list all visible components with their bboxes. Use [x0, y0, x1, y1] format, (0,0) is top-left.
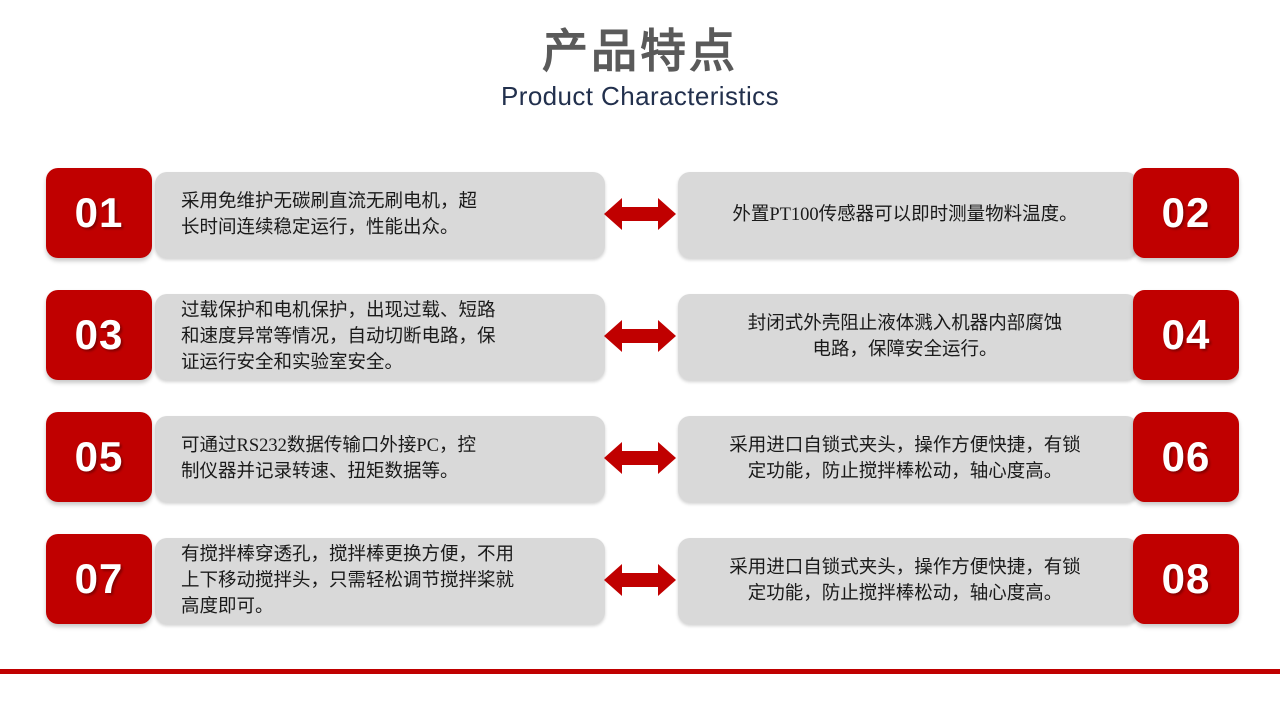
- feature-row: 03 过载保护和电机保护，出现过载、短路 和速度异常等情况，自动切断电路，保 证…: [0, 290, 1280, 380]
- feature-number-badge-07[interactable]: 07: [46, 534, 152, 624]
- feature-panel-04[interactable]: 封闭式外壳阻止液体溅入机器内部腐蚀 电路，保障安全运行。: [678, 294, 1138, 380]
- feature-number: 02: [1162, 192, 1211, 234]
- feature-rows: 01 采用免维护无碳刷直流无刷电机，超 长时间连续稳定运行，性能出众。 外置PT…: [0, 168, 1280, 656]
- feature-panel-03[interactable]: 过载保护和电机保护，出现过载、短路 和速度异常等情况，自动切断电路，保 证运行安…: [155, 294, 605, 380]
- footer-divider: [0, 669, 1280, 674]
- feature-number: 08: [1162, 558, 1211, 600]
- feature-text: 有搅拌棒穿透孔，搅拌棒更换方便，不用 上下移动搅拌头，只需轻松调节搅拌桨就 高度…: [181, 542, 514, 621]
- feature-number: 07: [75, 558, 124, 600]
- feature-panel-05[interactable]: 可通过RS232数据传输口外接PC，控 制仪器并记录转速、扭矩数据等。: [155, 416, 605, 502]
- double-arrow-horizontal-icon: [604, 560, 676, 600]
- feature-number: 06: [1162, 436, 1211, 478]
- feature-number-badge-02[interactable]: 02: [1133, 168, 1239, 258]
- double-arrow-horizontal-icon: [604, 316, 676, 356]
- feature-text: 采用进口自锁式夹头，操作方便快捷，有锁 定功能，防止搅拌棒松动，轴心度高。: [729, 555, 1081, 608]
- double-arrow-horizontal-icon: [604, 438, 676, 478]
- feature-row: 07 有搅拌棒穿透孔，搅拌棒更换方便，不用 上下移动搅拌头，只需轻松调节搅拌桨就…: [0, 534, 1280, 624]
- feature-panel-01[interactable]: 采用免维护无碳刷直流无刷电机，超 长时间连续稳定运行，性能出众。: [155, 172, 605, 258]
- feature-row: 01 采用免维护无碳刷直流无刷电机，超 长时间连续稳定运行，性能出众。 外置PT…: [0, 168, 1280, 258]
- feature-number: 01: [75, 192, 124, 234]
- double-arrow-horizontal-icon: [604, 194, 676, 234]
- feature-number: 03: [75, 314, 124, 356]
- page-subtitle: Product Characteristics: [0, 77, 1280, 112]
- feature-panel-08[interactable]: 采用进口自锁式夹头，操作方便快捷，有锁 定功能，防止搅拌棒松动，轴心度高。: [678, 538, 1138, 624]
- page-title: 产品特点: [0, 0, 1280, 77]
- feature-text: 可通过RS232数据传输口外接PC，控 制仪器并记录转速、扭矩数据等。: [181, 433, 476, 486]
- feature-number-badge-08[interactable]: 08: [1133, 534, 1239, 624]
- slide-header: 产品特点 Product Characteristics: [0, 0, 1280, 140]
- feature-number-badge-05[interactable]: 05: [46, 412, 152, 502]
- feature-text: 外置PT100传感器可以即时测量物料温度。: [732, 202, 1077, 228]
- feature-panel-07[interactable]: 有搅拌棒穿透孔，搅拌棒更换方便，不用 上下移动搅拌头，只需轻松调节搅拌桨就 高度…: [155, 538, 605, 624]
- feature-panel-02[interactable]: 外置PT100传感器可以即时测量物料温度。: [678, 172, 1138, 258]
- feature-number: 05: [75, 436, 124, 478]
- feature-row: 05 可通过RS232数据传输口外接PC，控 制仪器并记录转速、扭矩数据等。 采…: [0, 412, 1280, 502]
- feature-text: 过载保护和电机保护，出现过载、短路 和速度异常等情况，自动切断电路，保 证运行安…: [181, 298, 496, 377]
- feature-number-badge-01[interactable]: 01: [46, 168, 152, 258]
- feature-panel-06[interactable]: 采用进口自锁式夹头，操作方便快捷，有锁 定功能，防止搅拌棒松动，轴心度高。: [678, 416, 1138, 502]
- feature-text: 封闭式外壳阻止液体溅入机器内部腐蚀 电路，保障安全运行。: [748, 311, 1063, 364]
- feature-number-badge-04[interactable]: 04: [1133, 290, 1239, 380]
- feature-number: 04: [1162, 314, 1211, 356]
- feature-text: 采用进口自锁式夹头，操作方便快捷，有锁 定功能，防止搅拌棒松动，轴心度高。: [729, 433, 1081, 486]
- feature-text: 采用免维护无碳刷直流无刷电机，超 长时间连续稳定运行，性能出众。: [181, 189, 477, 242]
- feature-number-badge-06[interactable]: 06: [1133, 412, 1239, 502]
- feature-number-badge-03[interactable]: 03: [46, 290, 152, 380]
